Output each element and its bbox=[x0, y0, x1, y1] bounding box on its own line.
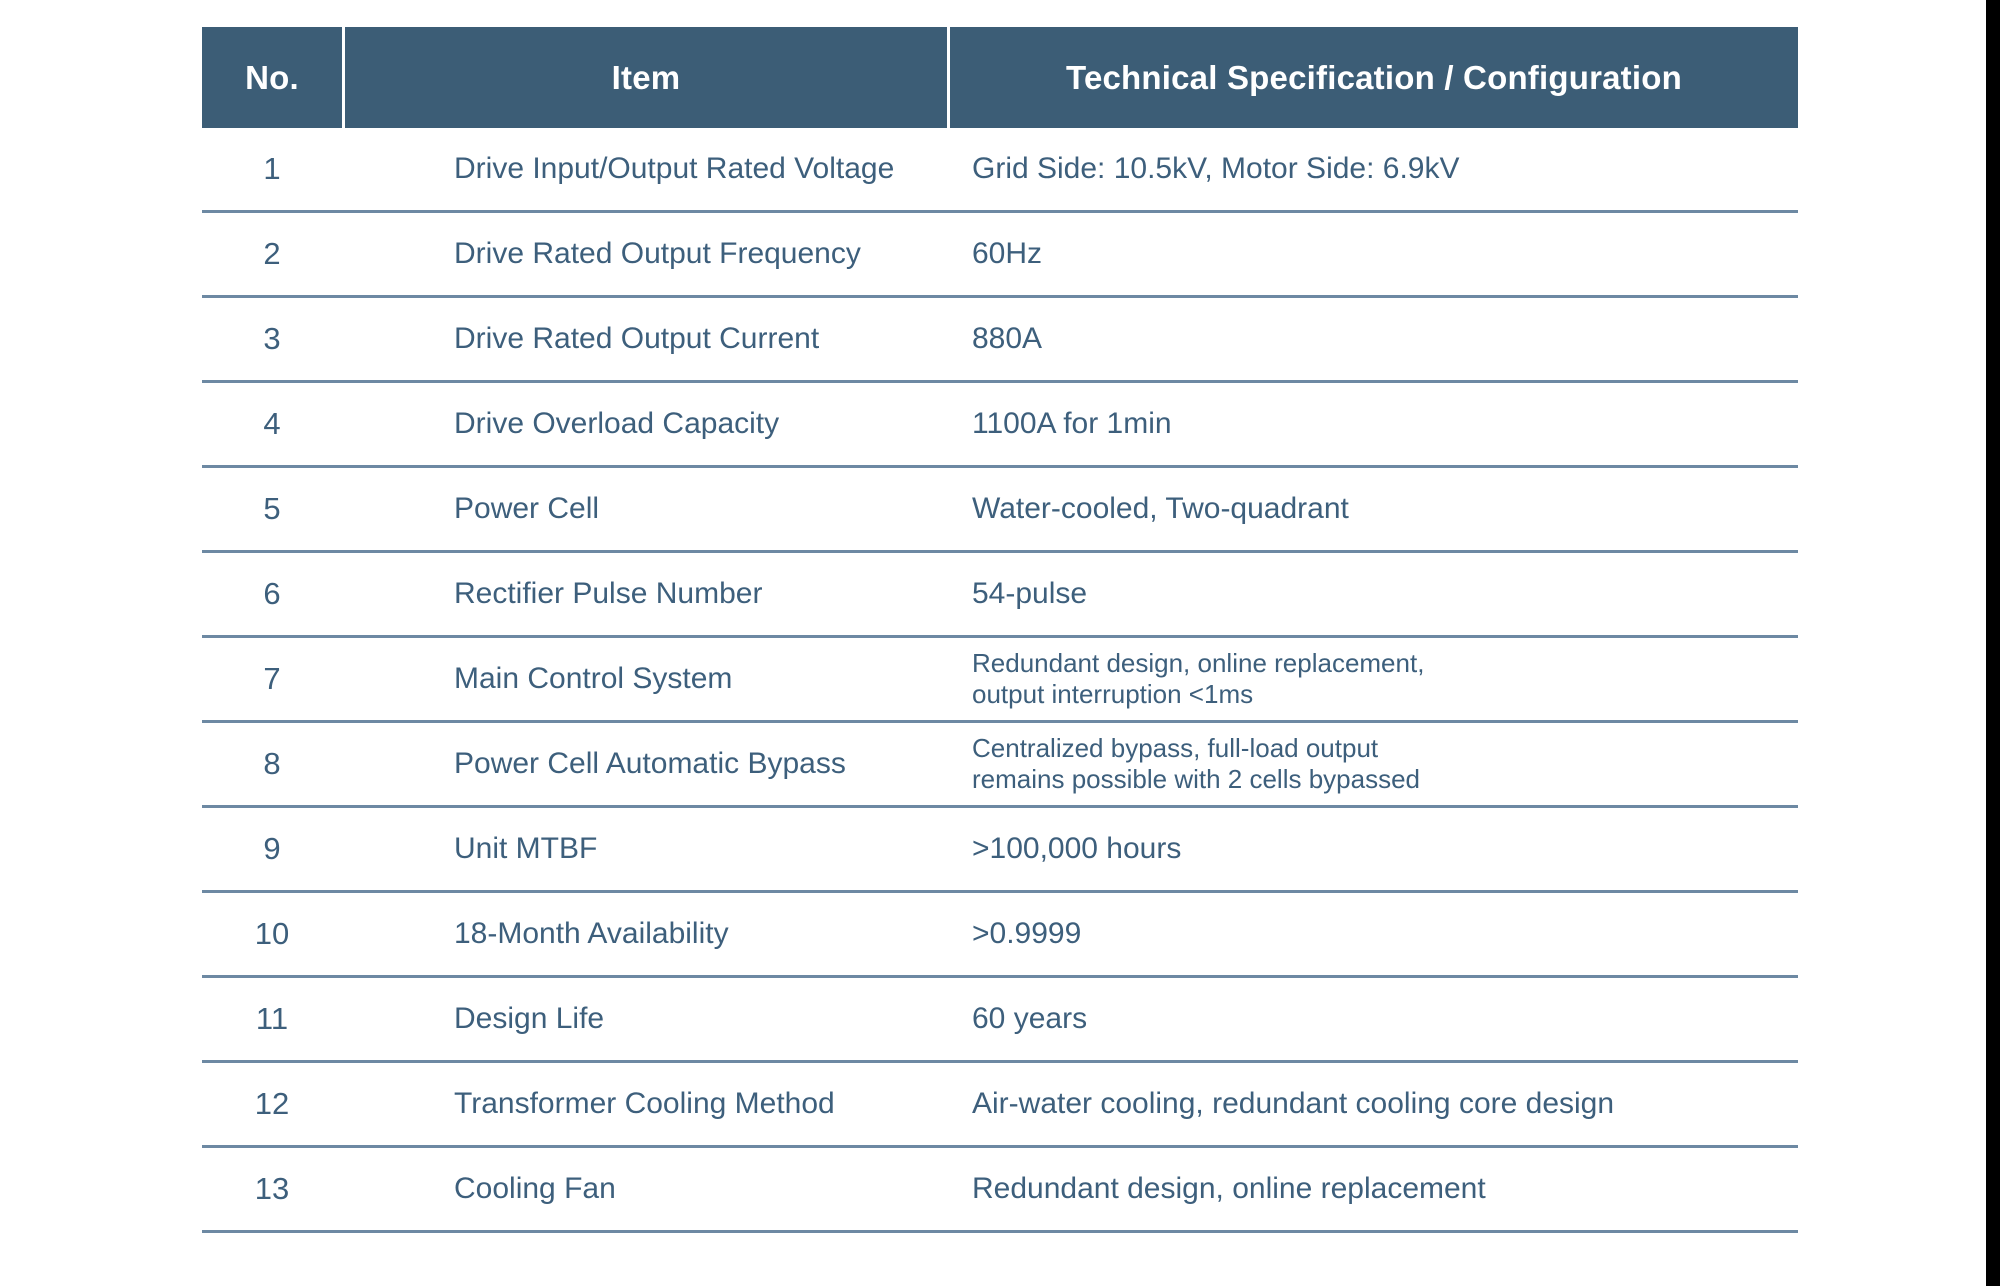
cell-item: Drive Rated Output Frequency bbox=[342, 237, 956, 271]
cell-no: 12 bbox=[202, 1086, 342, 1122]
table-row: 5Power CellWater-cooled, Two-quadrant bbox=[202, 468, 1798, 553]
cell-item: Main Control System bbox=[342, 662, 956, 696]
table-header-row: No. Item Technical Specification / Confi… bbox=[202, 27, 1798, 128]
table-row: 9Unit MTBF>100,000 hours bbox=[202, 808, 1798, 893]
column-header-spec: Technical Specification / Configuration bbox=[950, 27, 1798, 128]
cell-spec: 54-pulse bbox=[956, 577, 1798, 611]
table-row: 3Drive Rated Output Current880A bbox=[202, 298, 1798, 383]
cell-item: Power Cell Automatic Bypass bbox=[342, 747, 956, 781]
cell-no: 9 bbox=[202, 831, 342, 867]
cell-spec: Grid Side: 10.5kV, Motor Side: 6.9kV bbox=[956, 152, 1798, 186]
cell-no: 7 bbox=[202, 661, 342, 697]
table-row: 7Main Control SystemRedundant design, on… bbox=[202, 638, 1798, 723]
cell-item: Drive Rated Output Current bbox=[342, 322, 956, 356]
cell-spec: Air-water cooling, redundant cooling cor… bbox=[956, 1087, 1798, 1121]
table-row: 2Drive Rated Output Frequency60Hz bbox=[202, 213, 1798, 298]
cell-spec: >0.9999 bbox=[956, 917, 1798, 951]
cell-item: Drive Overload Capacity bbox=[342, 407, 956, 441]
cell-spec: >100,000 hours bbox=[956, 832, 1798, 866]
table-row: 6Rectifier Pulse Number54-pulse bbox=[202, 553, 1798, 638]
cell-no: 4 bbox=[202, 406, 342, 442]
table-row: 1Drive Input/Output Rated VoltageGrid Si… bbox=[202, 128, 1798, 213]
cell-no: 8 bbox=[202, 746, 342, 782]
cell-item: Design Life bbox=[342, 1002, 956, 1036]
cell-item: Unit MTBF bbox=[342, 832, 956, 866]
table-row: 12Transformer Cooling MethodAir-water co… bbox=[202, 1063, 1798, 1148]
table-row: 8Power Cell Automatic BypassCentralized … bbox=[202, 723, 1798, 808]
cell-no: 10 bbox=[202, 916, 342, 952]
cell-item: Power Cell bbox=[342, 492, 956, 526]
cell-no: 6 bbox=[202, 576, 342, 612]
cell-no: 2 bbox=[202, 236, 342, 272]
cell-spec: Water-cooled, Two-quadrant bbox=[956, 492, 1798, 526]
table-row: 11Design Life60 years bbox=[202, 978, 1798, 1063]
cell-spec: Redundant design, online replacement bbox=[956, 1172, 1798, 1206]
cell-spec: 60 years bbox=[956, 1002, 1798, 1036]
cell-no: 5 bbox=[202, 491, 342, 527]
column-header-no: No. bbox=[202, 27, 342, 128]
technical-specification-table: No. Item Technical Specification / Confi… bbox=[202, 27, 1798, 1233]
right-edge-band bbox=[1986, 0, 2000, 1286]
cell-no: 3 bbox=[202, 321, 342, 357]
column-header-item: Item bbox=[342, 27, 950, 128]
cell-item: Cooling Fan bbox=[342, 1172, 956, 1206]
table-row: 1018-Month Availability>0.9999 bbox=[202, 893, 1798, 978]
cell-item: Drive Input/Output Rated Voltage bbox=[342, 152, 956, 186]
table-row: 4Drive Overload Capacity1100A for 1min bbox=[202, 383, 1798, 468]
cell-spec: 1100A for 1min bbox=[956, 407, 1798, 441]
table-row: 13Cooling FanRedundant design, online re… bbox=[202, 1148, 1798, 1233]
cell-spec: Redundant design, online replacement, ou… bbox=[956, 648, 1798, 709]
cell-no: 11 bbox=[202, 1001, 342, 1037]
cell-item: 18-Month Availability bbox=[342, 917, 956, 951]
cell-item: Transformer Cooling Method bbox=[342, 1087, 956, 1121]
cell-spec: Centralized bypass, full-load output rem… bbox=[956, 733, 1798, 794]
cell-no: 13 bbox=[202, 1171, 342, 1207]
cell-no: 1 bbox=[202, 151, 342, 187]
cell-spec: 60Hz bbox=[956, 237, 1798, 271]
cell-item: Rectifier Pulse Number bbox=[342, 577, 956, 611]
table-body: 1Drive Input/Output Rated VoltageGrid Si… bbox=[202, 128, 1798, 1233]
cell-spec: 880A bbox=[956, 322, 1798, 356]
